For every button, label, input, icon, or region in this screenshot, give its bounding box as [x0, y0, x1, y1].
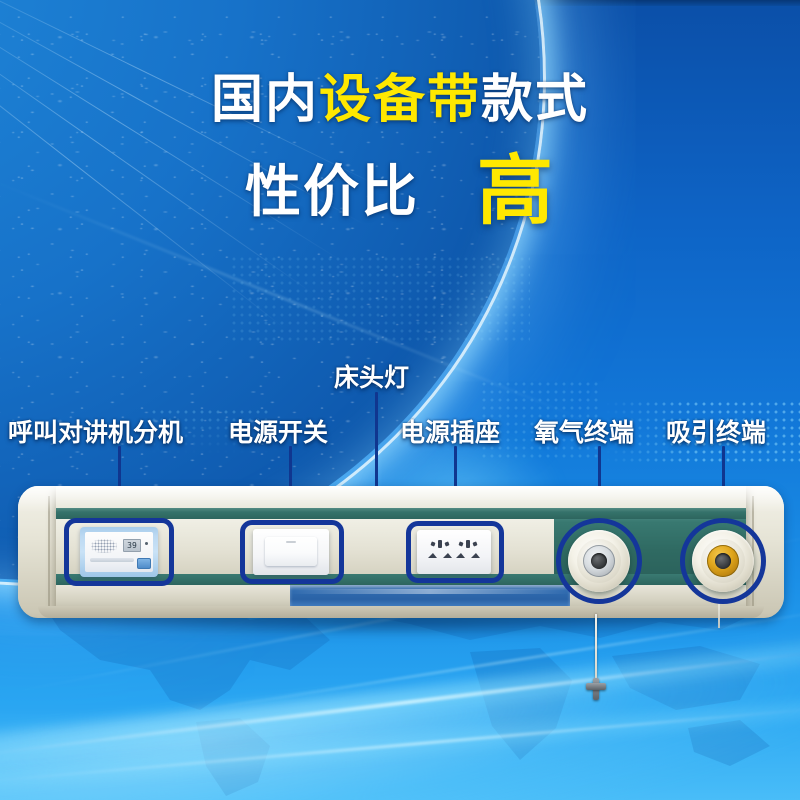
callout-label-switch: 电源开关 — [228, 413, 328, 449]
callout-label-socket: 电源插座 — [400, 413, 500, 449]
unit-bottom-lip — [38, 606, 764, 618]
highlight-circle-suction — [680, 518, 766, 604]
callout-label-intercom: 呼叫对讲机分机 — [8, 413, 183, 449]
unit-top-highlight — [18, 486, 784, 512]
callout-label-oxygen: 氧气终端 — [534, 413, 634, 449]
promo-banner: 国内设备带款式 性价比高 呼叫对讲机分机 电源开关 床头灯 电源插座 氧气终端 … — [0, 0, 800, 800]
callout-label-bedlamp: 床头灯 — [334, 358, 409, 394]
callout-layer: 呼叫对讲机分机 电源开关 床头灯 电源插座 氧气终端 吸引终端 — [0, 0, 800, 800]
highlight-circle-oxygen — [556, 518, 642, 604]
highlight-box-intercom — [64, 518, 174, 586]
hanging-cord-secondary — [718, 602, 720, 628]
highlight-box-switch — [240, 520, 344, 584]
cord-cross-fitting-icon — [586, 678, 606, 700]
callout-label-suction: 吸引终端 — [666, 413, 766, 449]
hanging-cord — [595, 614, 597, 680]
highlight-box-socket — [406, 521, 504, 583]
